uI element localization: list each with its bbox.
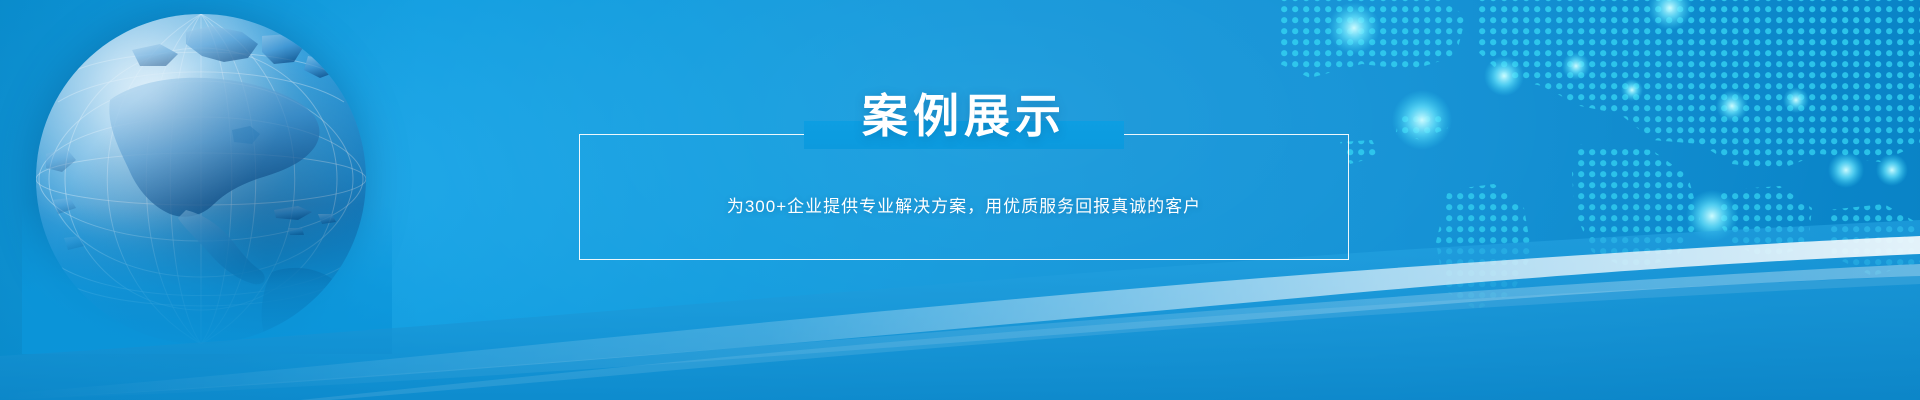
rectangular-outline-frame: 为300+企业提供专业解决方案，用优质服务回报真诚的客户 [579, 134, 1349, 260]
title-frame-block: 为300+企业提供专业解决方案，用优质服务回报真诚的客户 案例展示 [579, 134, 1349, 260]
page-banner: 为300+企业提供专业解决方案，用优质服务回报真诚的客户 案例展示 [0, 0, 1920, 400]
title-border-mask [804, 121, 1124, 149]
banner-content: 为300+企业提供专业解决方案，用优质服务回报真诚的客户 案例展示 [0, 0, 1920, 400]
banner-subtitle: 为300+企业提供专业解决方案，用优质服务回报真诚的客户 [727, 198, 1201, 215]
